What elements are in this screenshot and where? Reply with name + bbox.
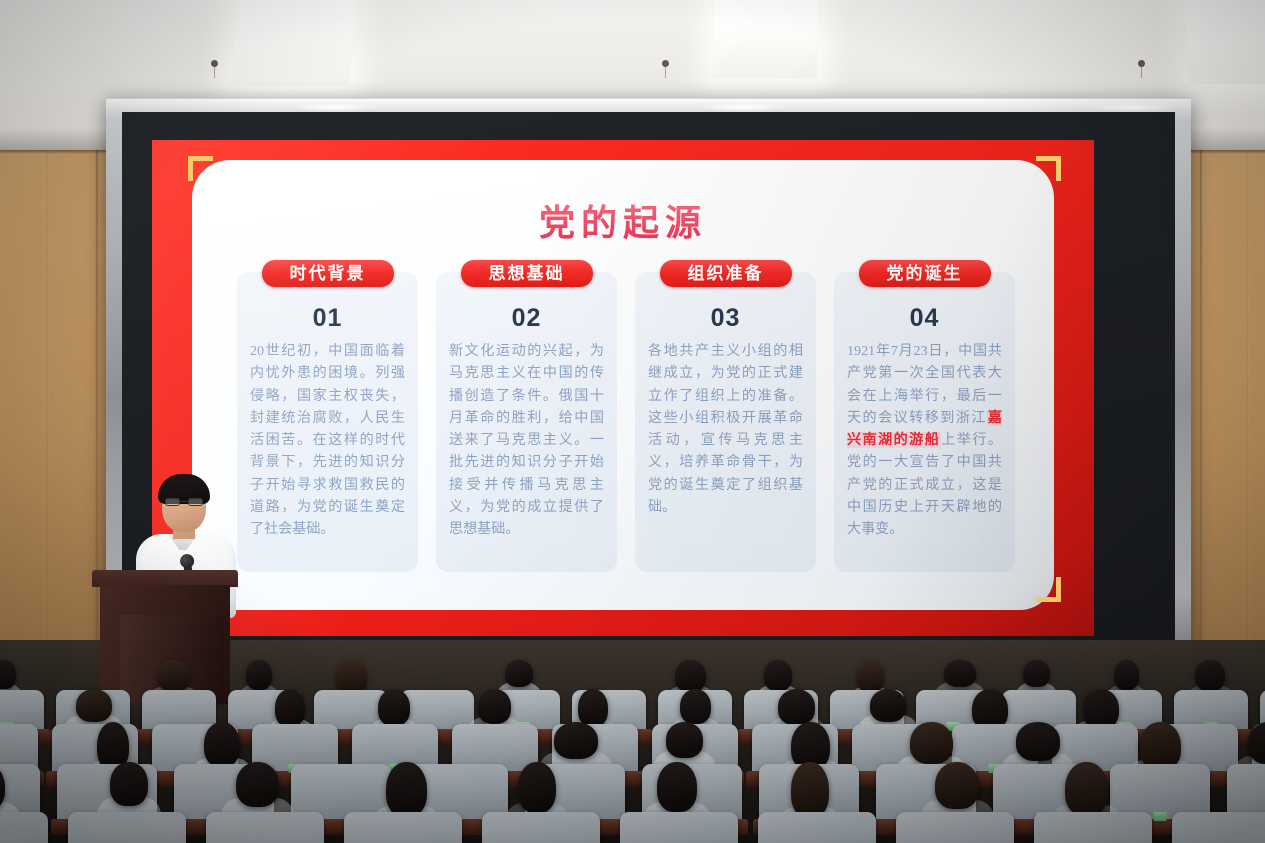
audience-member-head: [675, 660, 706, 692]
audience-member-head: [666, 722, 703, 758]
audience-member-head: [76, 689, 112, 722]
corner-accent-icon: [188, 156, 213, 181]
auditorium-seat: [1172, 812, 1265, 843]
audience-member-head: [505, 660, 533, 687]
audience-member-head: [680, 689, 711, 724]
auditorium-seat: [896, 812, 1014, 843]
audience-member-head: [578, 689, 608, 727]
auditorium-seat: [344, 812, 462, 843]
audience-member-head: [110, 762, 148, 806]
slide-card: 组织准备 03 各地共产主义小组的相继成立，为党的正式建立作了组织上的准备。这些…: [635, 272, 816, 572]
audience-member-head: [158, 660, 190, 692]
audience-member-head: [944, 660, 976, 687]
ceiling-light-panel: [231, 0, 359, 86]
card-number: 01: [250, 304, 405, 333]
audience-member-head: [1065, 762, 1108, 816]
card-badge: 时代背景: [262, 260, 394, 287]
audience-member-head: [857, 660, 884, 693]
auditorium-seat: [482, 812, 600, 843]
auditorium-seat: [1034, 812, 1152, 843]
card-badge: 思想基础: [461, 260, 593, 287]
auditorium-seat: [0, 812, 48, 843]
card-number: 02: [449, 304, 604, 333]
audience-member-head: [1016, 722, 1060, 761]
audience-member-head: [1083, 689, 1119, 729]
audience-member-head: [275, 689, 305, 727]
corner-accent-icon: [1036, 577, 1061, 602]
slide-content-area: 党的起源 时代背景 01 20世纪初，中国面临着内忧外患的困境。列强侵略，国家主…: [192, 160, 1054, 610]
slide-card: 党的诞生 04 1921年7月23日，中国共产党第一次全国代表大会在上海举行，最…: [834, 272, 1015, 572]
auditorium-seat: [206, 812, 324, 843]
ceiling-light-panel: [713, 0, 819, 78]
audience-member-head: [1023, 660, 1050, 687]
card-body-text: 新文化运动的兴起，为马克思主义在中国的传播创造了条件。俄国十月革命的胜利，给中国…: [449, 340, 604, 540]
slide-card: 思想基础 02 新文化运动的兴起，为马克思主义在中国的传播创造了条件。俄国十月革…: [436, 272, 617, 572]
audience-member-head: [378, 689, 410, 726]
auditorium-seat: [758, 812, 876, 843]
audience-member-head: [478, 689, 511, 724]
card-body-text: 1921年7月23日，中国共产党第一次全国代表大会在上海举行，最后一天的会议转移…: [847, 340, 1002, 540]
ceiling-sensor-icon: [1138, 60, 1145, 67]
audience-member-head: [386, 762, 427, 817]
slide-title: 党的起源: [192, 194, 1054, 246]
card-number: 03: [648, 304, 803, 333]
audience-member-head: [204, 722, 240, 767]
audience-member-head: [657, 762, 697, 812]
wall-seam: [1200, 150, 1202, 725]
ceiling-light-panel: [1182, 0, 1265, 84]
auditorium-seat: [68, 812, 186, 843]
audience-member-head: [791, 762, 829, 818]
corner-accent-icon: [1036, 156, 1061, 181]
ceiling-sensor-icon: [662, 60, 669, 67]
audience-member-head: [1114, 660, 1139, 690]
audience-member-head: [910, 722, 953, 764]
card-badge: 党的诞生: [859, 260, 991, 287]
audience-member-head: [1195, 660, 1225, 691]
auditorium-seat: [620, 812, 738, 843]
ceiling-sensor-icon: [211, 60, 218, 67]
audience-member-head: [246, 660, 272, 690]
audience-member-head: [554, 722, 598, 759]
audience-member-head: [764, 660, 792, 691]
slide-cards-row: 时代背景 01 20世纪初，中国面临着内忧外患的困境。列强侵略，国家主权丧失，封…: [237, 272, 1015, 572]
audience-member-head: [236, 762, 279, 807]
card-number: 04: [847, 304, 1002, 333]
audience-member-head: [870, 689, 906, 722]
eyeglasses-icon: [165, 498, 203, 506]
audience-member-head: [1140, 722, 1181, 770]
seat-number-tag: [1154, 812, 1167, 821]
audience-member-head: [518, 762, 556, 813]
card-body-text: 20世纪初，中国面临着内忧外患的困境。列强侵略，国家主权丧失，封建统治腐败，人民…: [250, 340, 405, 540]
lecture-hall-scene: 党的起源 时代背景 01 20世纪初，中国面临着内忧外患的困境。列强侵略，国家主…: [0, 0, 1265, 843]
card-body-text: 各地共产主义小组的相继成立，为党的正式建立作了组织上的准备。这些小组积极开展革命…: [648, 340, 803, 518]
presentation-slide: 党的起源 时代背景 01 20世纪初，中国面临着内忧外患的困境。列强侵略，国家主…: [152, 140, 1094, 636]
audience-member-head: [778, 689, 815, 725]
card-body-part1: 1921年7月23日，中国共产党第一次全国代表大会在上海举行，最后一天的会议转移…: [847, 343, 1002, 426]
audience-member-head: [935, 762, 979, 809]
card-badge: 组织准备: [660, 260, 792, 287]
